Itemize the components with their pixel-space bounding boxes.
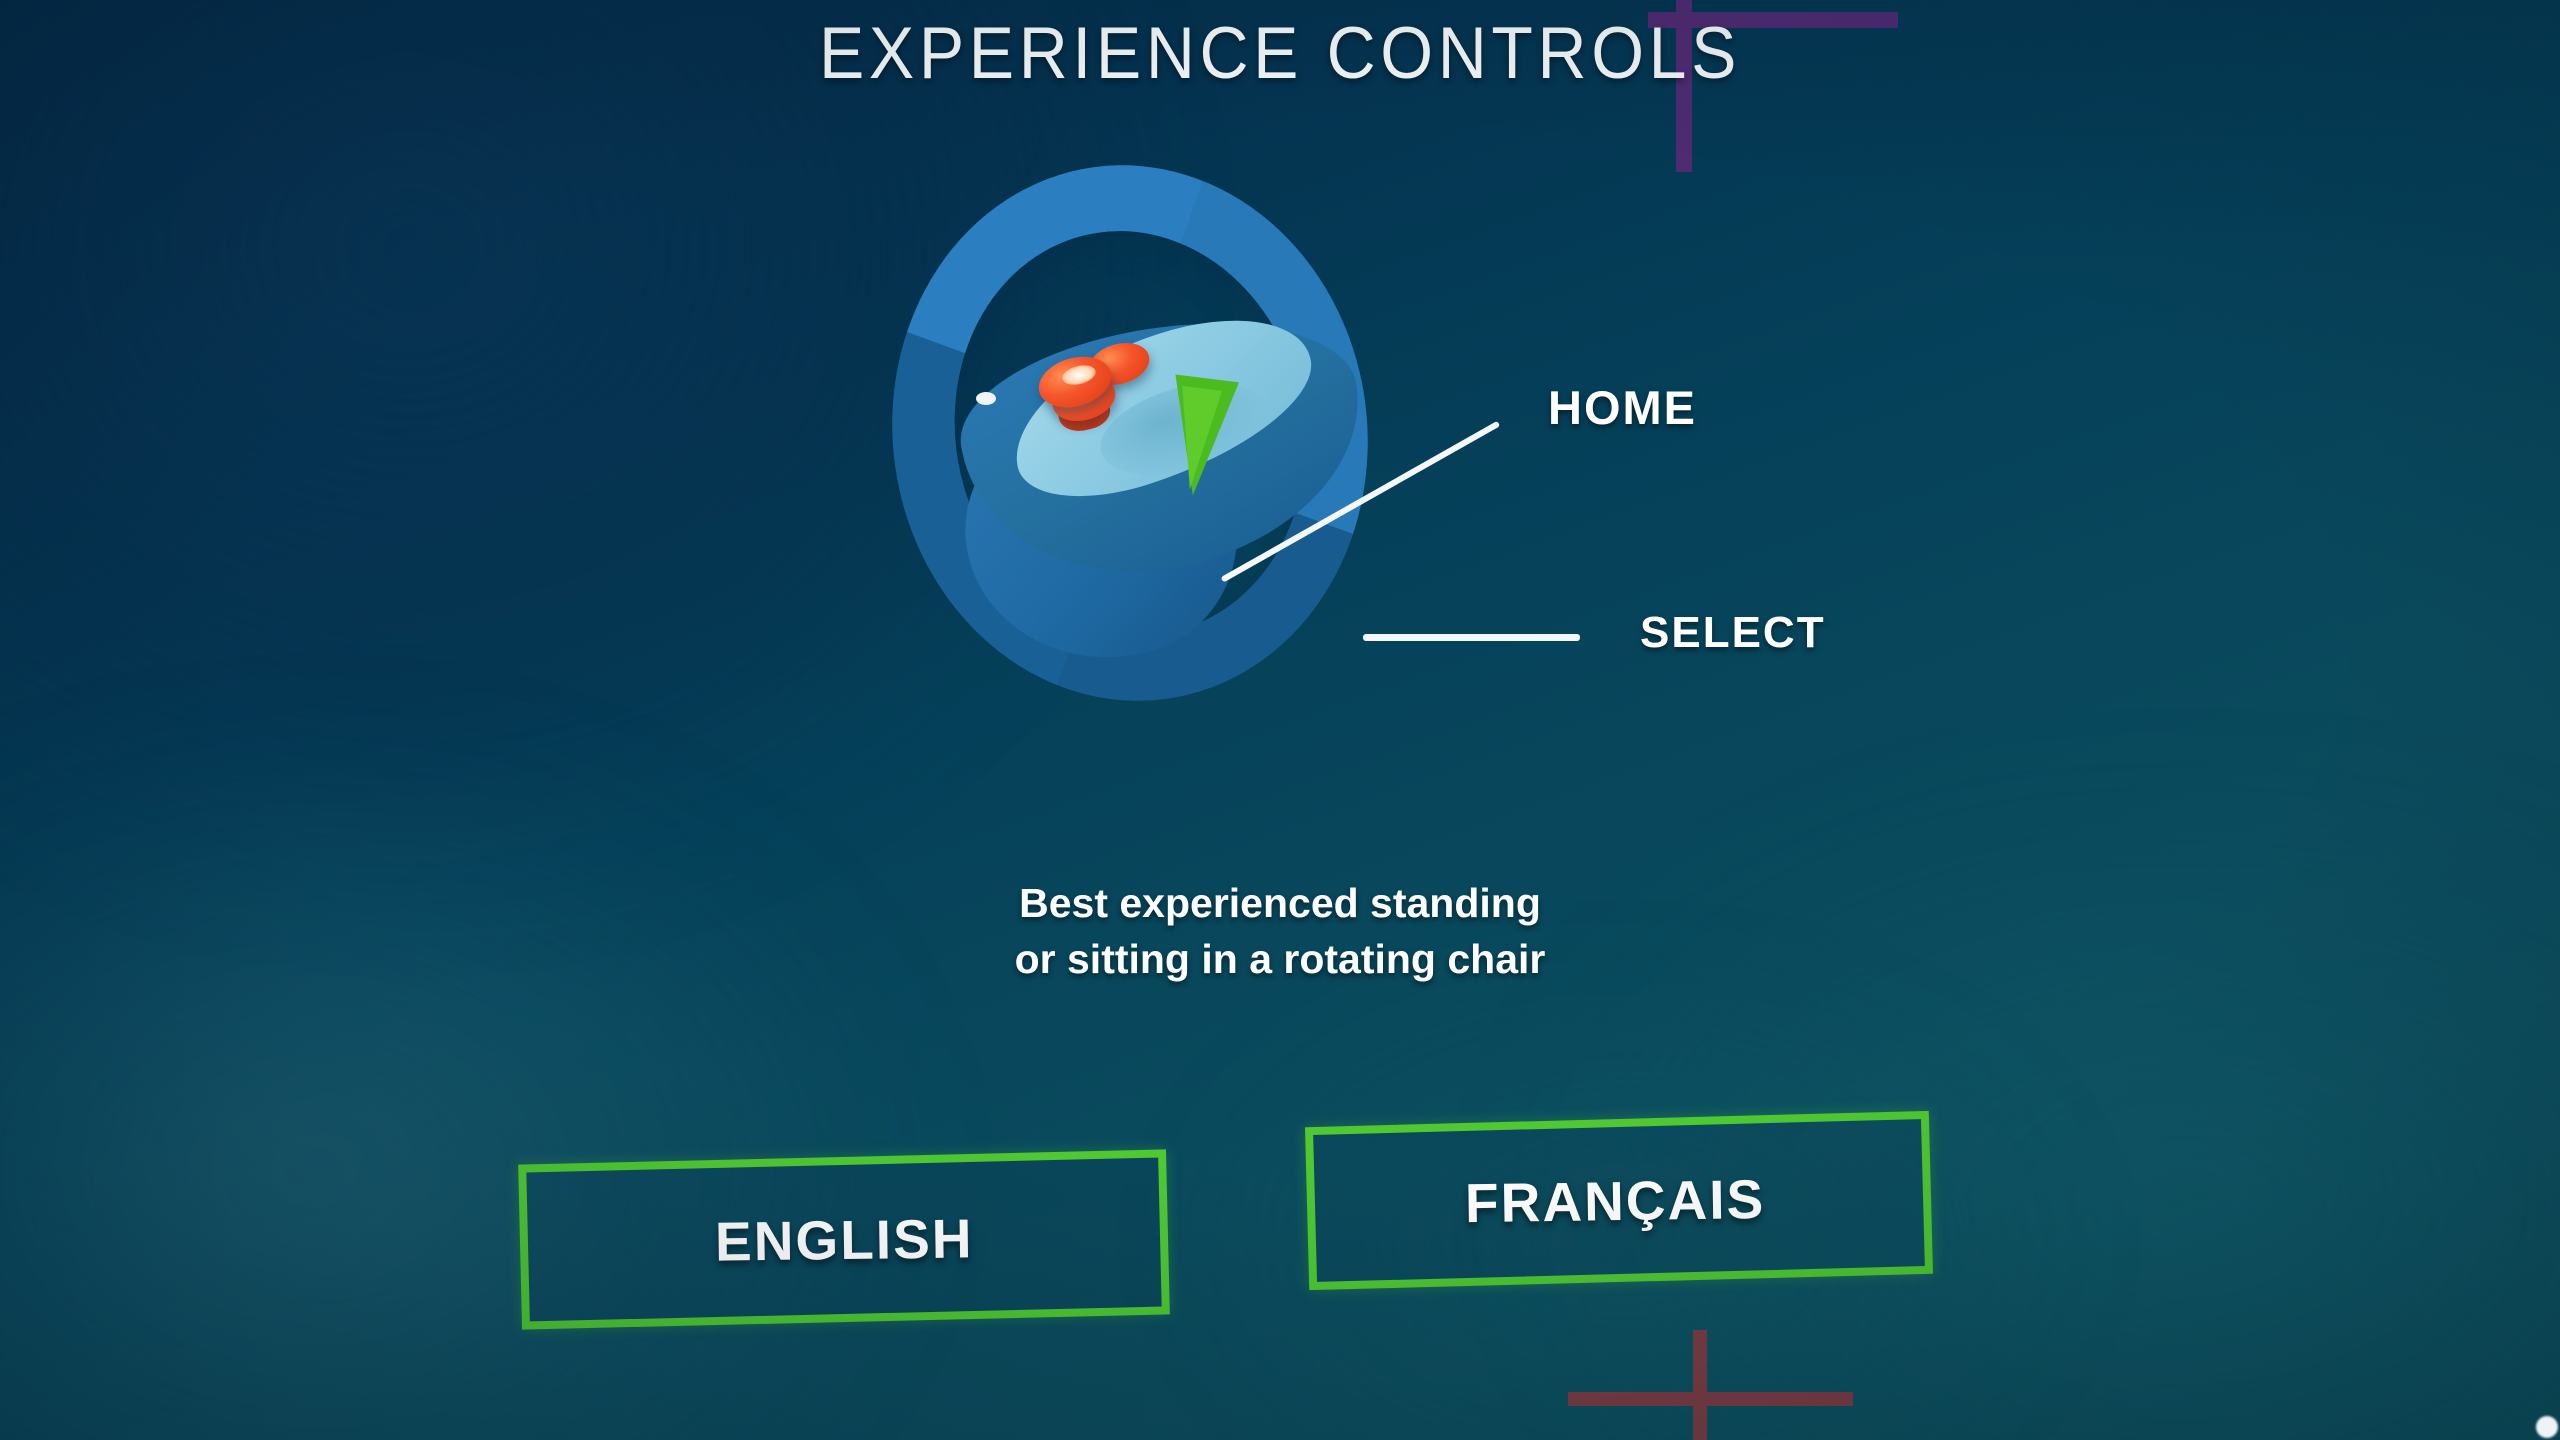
- corner-dot-icon: [2536, 1416, 2558, 1438]
- experience-controls-screen: EXPERIENCE CONTROLS HOME SELECT Best exp…: [0, 0, 2560, 1440]
- vignette-overlay: [0, 0, 2560, 1440]
